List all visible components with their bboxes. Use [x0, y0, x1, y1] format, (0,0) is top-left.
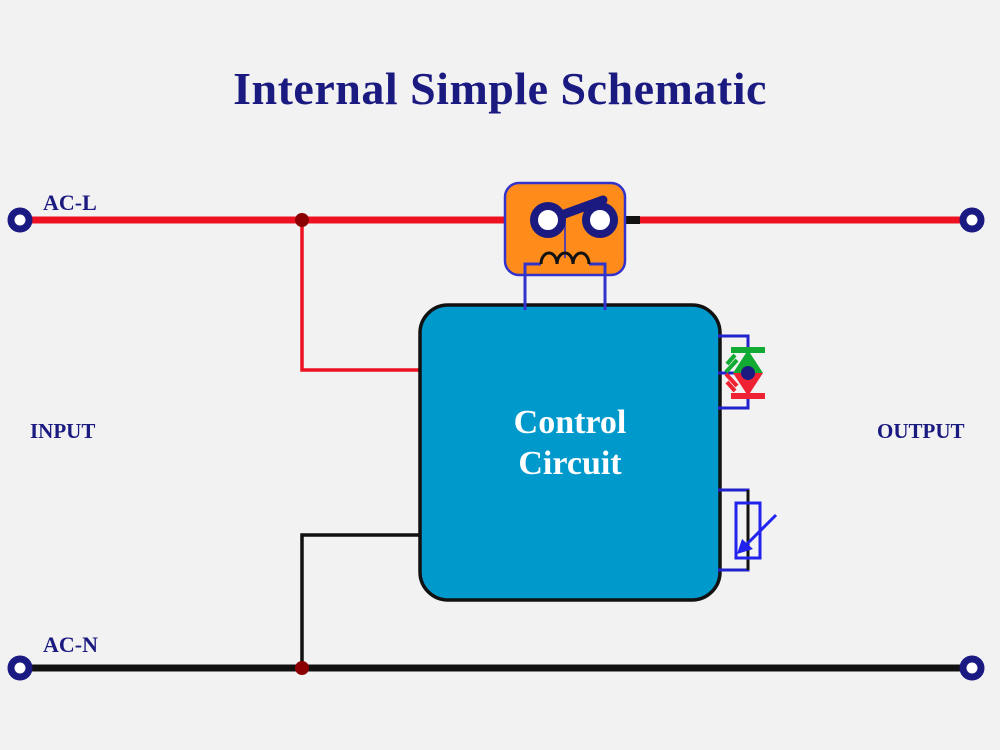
- label-ac-line: AC-L: [43, 190, 97, 216]
- relay-terminal-right: [586, 206, 614, 234]
- ac-neutral-junction-dot: [295, 661, 309, 675]
- label-ac-neutral: AC-N: [43, 632, 98, 658]
- terminal-ac-neutral-input[interactable]: [11, 659, 29, 677]
- relay-terminal-left: [534, 206, 562, 234]
- page-title: Internal Simple Schematic: [0, 62, 1000, 115]
- control-circuit-label-line2: Circuit: [420, 443, 720, 484]
- ac-line-junction-dot: [295, 213, 309, 227]
- terminal-ac-neutral-output[interactable]: [963, 659, 981, 677]
- neutral-branch-wire: [302, 535, 422, 668]
- terminal-ac-line-input[interactable]: [11, 211, 29, 229]
- led-junction-dot: [741, 366, 755, 380]
- label-input: INPUT: [30, 419, 95, 444]
- label-output: OUTPUT: [877, 419, 965, 444]
- control-circuit-label-line1: Control: [420, 402, 720, 443]
- line-branch-wire: [302, 220, 422, 370]
- terminal-ac-line-output[interactable]: [963, 211, 981, 229]
- control-circuit-label: Control Circuit: [420, 402, 720, 484]
- schematic-canvas: Internal Simple Schematic AC-L AC-N INPU…: [0, 0, 1000, 750]
